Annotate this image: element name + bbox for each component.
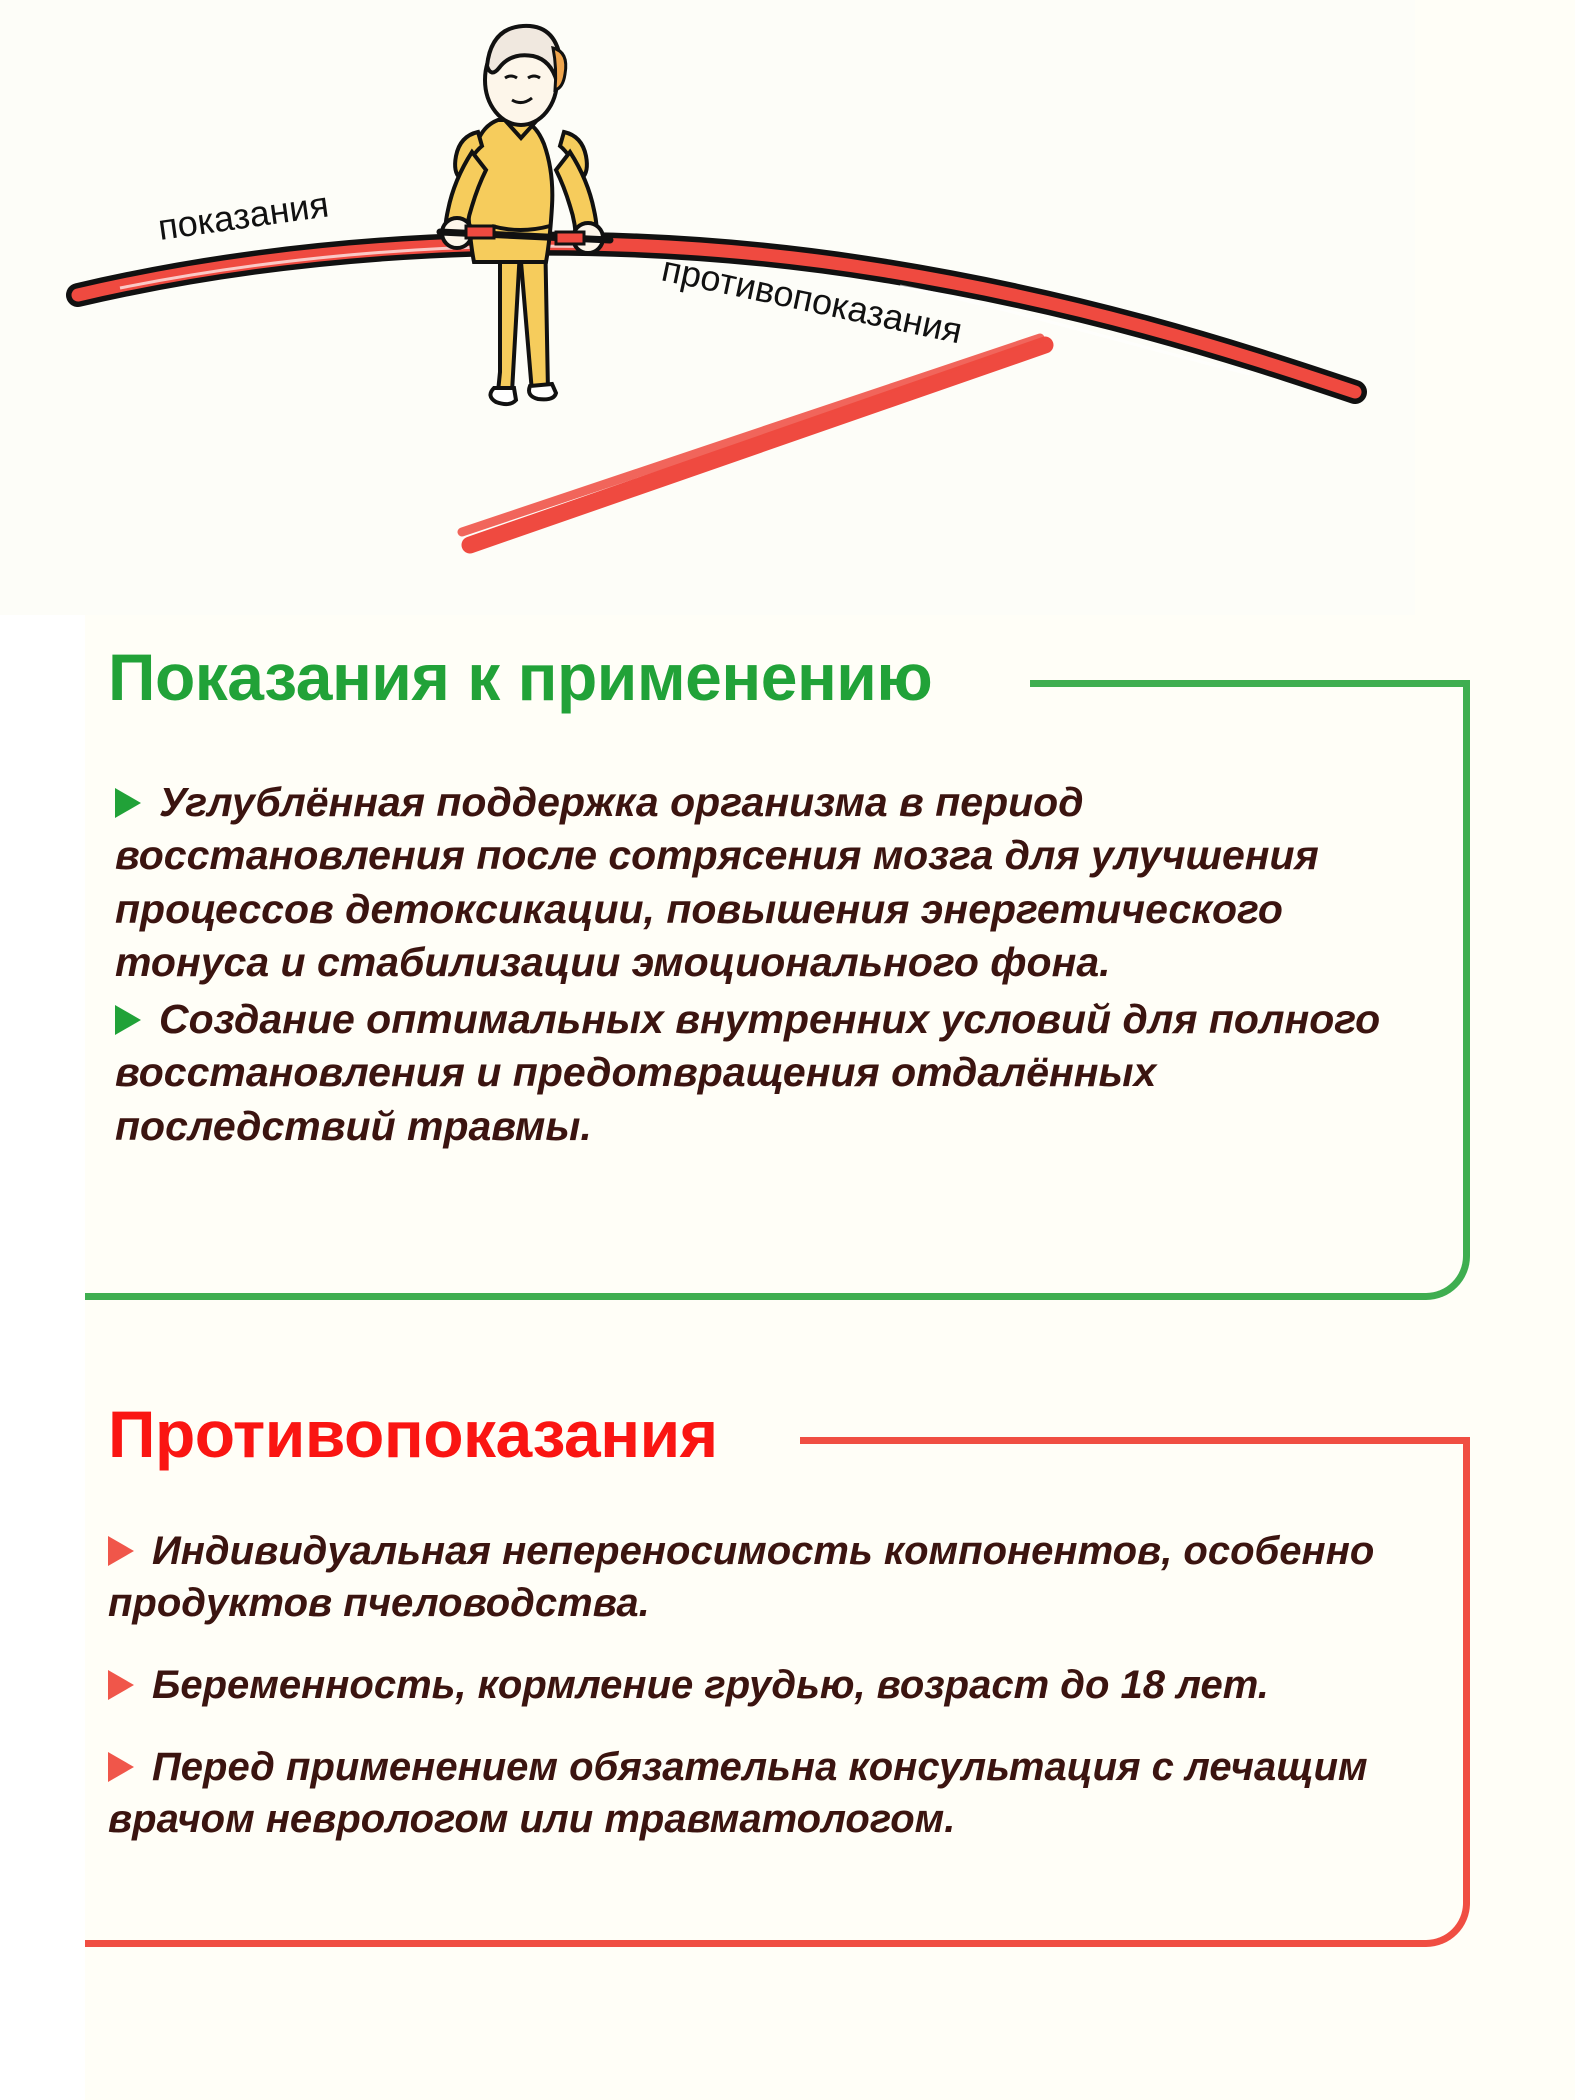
list-item: Беременность, кормление грудью, возраст … (108, 1659, 1448, 1711)
list-item: Перед применением обязательна консультац… (108, 1741, 1448, 1845)
indications-bullet-text: Создание оптимальных внутренних условий … (115, 996, 1380, 1149)
contraindications-left-margin-mask (0, 1375, 85, 1975)
list-item: Индивидуальная непереносимость компонент… (108, 1525, 1448, 1629)
triangle-bullet-icon (108, 1752, 134, 1782)
tightrope-illustration-svg: показания противопоказания (0, 0, 1415, 615)
contraindications-bullet-text: Перед применением обязательна консультац… (108, 1745, 1368, 1841)
page-root: показания противопоказания (0, 0, 1575, 2100)
list-item: Создание оптимальных внутренних условий … (115, 993, 1435, 1153)
contraindications-section: Противопоказания Индивидуальная неперено… (0, 1375, 1575, 1975)
indications-section: Показания к применению Углублённая подде… (0, 616, 1575, 1346)
indications-bullet-list: Углублённая поддержка организма в период… (115, 776, 1435, 1157)
triangle-bullet-icon (115, 1005, 141, 1035)
indications-heading: Показания к применению (108, 644, 932, 710)
contraindications-heading: Противопоказания (108, 1401, 718, 1467)
contraindications-bullet-list: Индивидуальная непереносимость компонент… (108, 1525, 1448, 1875)
indications-left-margin-mask (0, 616, 85, 1346)
contraindications-bullet-text: Беременность, кормление грудью, возраст … (152, 1663, 1269, 1707)
contraindications-bullet-text: Индивидуальная непереносимость компонент… (108, 1529, 1374, 1625)
indications-bullet-text: Углублённая поддержка организма в период… (115, 779, 1319, 985)
list-item: Углублённая поддержка организма в период… (115, 776, 1435, 989)
triangle-bullet-icon (115, 788, 141, 818)
hero-illustration: показания противопоказания (0, 0, 1415, 615)
triangle-bullet-icon (108, 1536, 134, 1566)
triangle-bullet-icon (108, 1670, 134, 1700)
